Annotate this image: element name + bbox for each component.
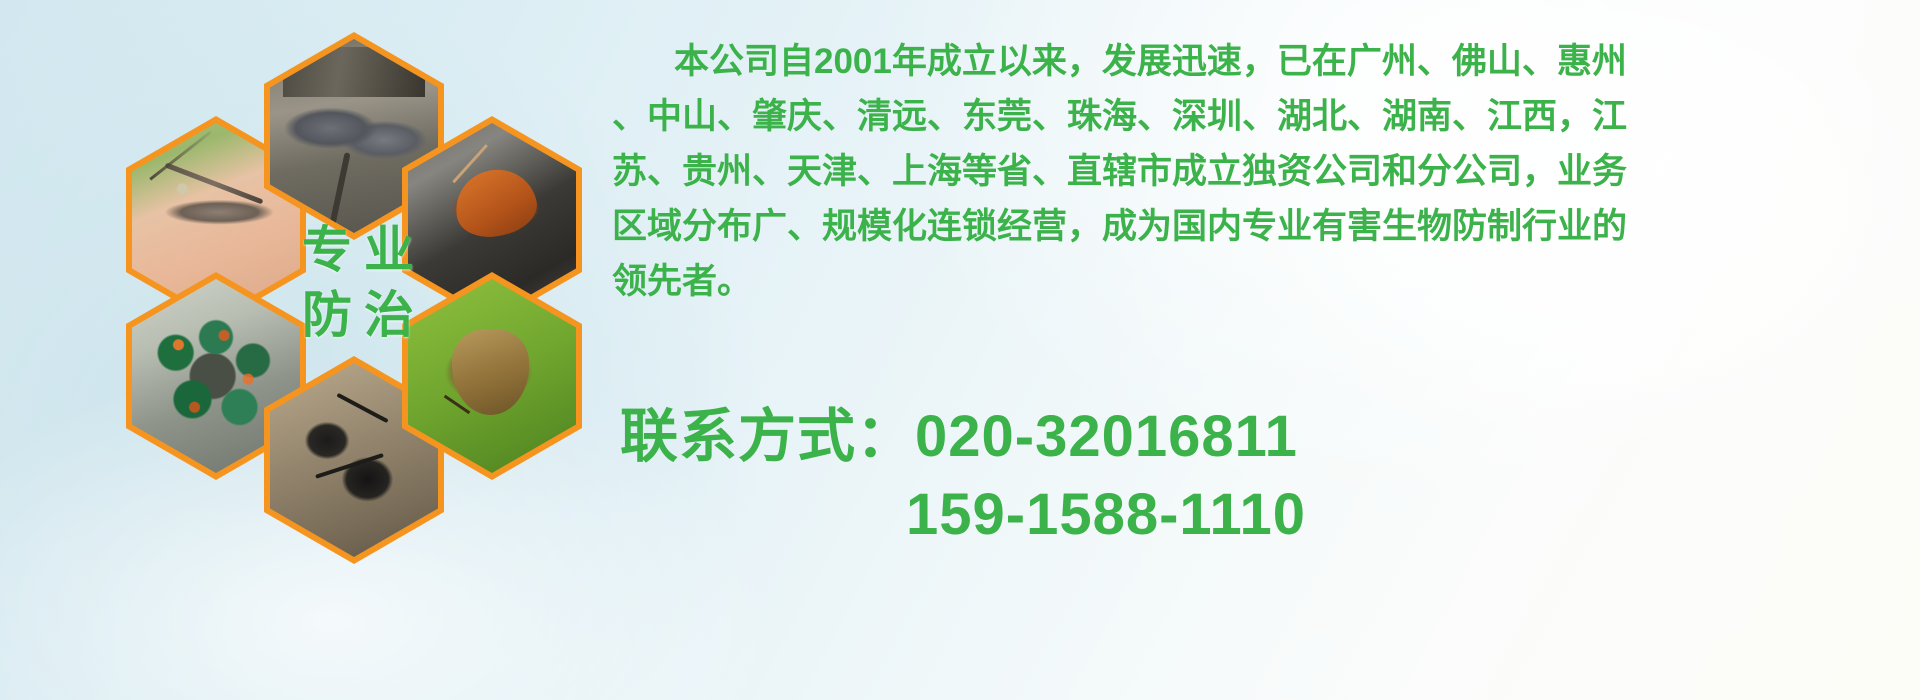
stinkbug-photo: [408, 279, 576, 473]
intro-line-3: 苏、贵州、天津、上海等省、直辖市成立独资公司和分公司，业务: [612, 144, 1882, 199]
contact-primary-phone[interactable]: 联系方式：020-32016811: [620, 398, 1910, 476]
promo-banner: 专业 防治 本公司自2001年成立以来，发展迅速，已在广州、佛山、惠州 、中山、…: [0, 0, 1920, 700]
intro-line-5: 领先者。: [612, 254, 1882, 309]
intro-line-4: 区域分布广、规模化连锁经营，成为国内专业有害生物防制行业的: [612, 199, 1882, 254]
intro-line-2: 、中山、肇庆、清远、东莞、珠海、深圳、湖北、湖南、江西，江: [612, 89, 1882, 144]
intro-line-1: 本公司自2001年成立以来，发展迅速，已在广州、佛山、惠州: [612, 34, 1882, 89]
hex-photo-frame: [408, 279, 576, 473]
contact-block: 联系方式：020-32016811 159-1588-1110: [620, 398, 1910, 554]
honeycomb-photo-cluster: 专业 防治: [80, 8, 600, 568]
company-intro-paragraph: 本公司自2001年成立以来，发展迅速，已在广州、佛山、惠州 、中山、肇庆、清远、…: [612, 34, 1882, 309]
contact-secondary-phone[interactable]: 159-1588-1110: [620, 476, 1910, 554]
